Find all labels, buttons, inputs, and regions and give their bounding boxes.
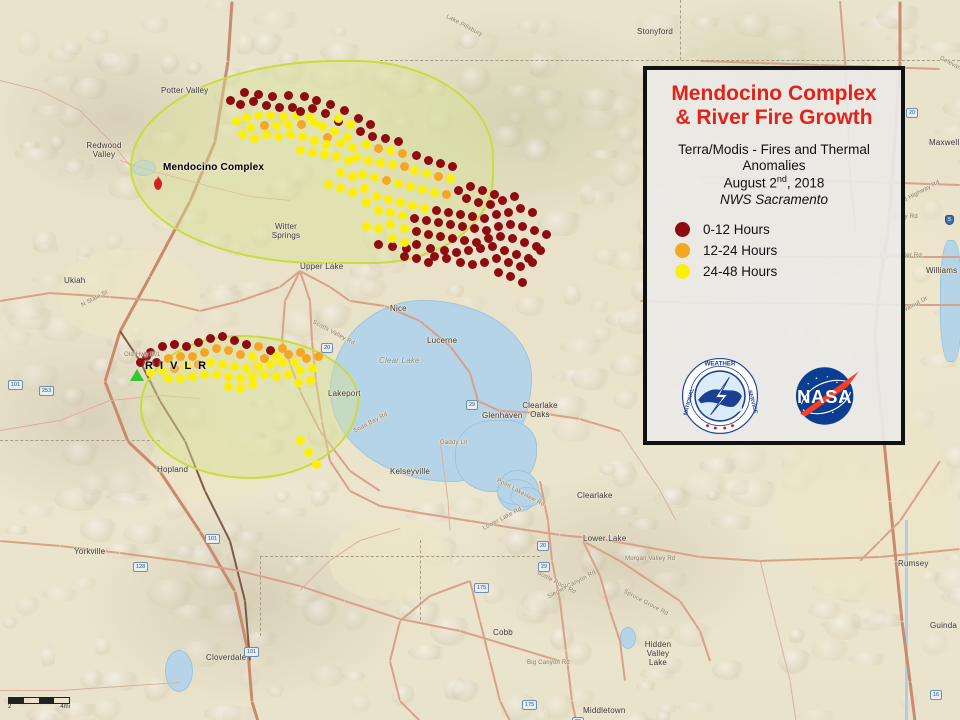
relief-hill — [80, 518, 120, 541]
fire-dot-mendocino-112 — [464, 246, 473, 255]
highway-shield-5: 5 — [945, 215, 954, 225]
fire-dot-mendocino-102 — [496, 232, 505, 241]
legend-date-ordinal: nd — [777, 174, 787, 184]
place-label-clear-lake: Clear Lake — [379, 356, 420, 365]
place-label-kelseyville: Kelseyville — [390, 467, 430, 476]
relief-hill — [14, 148, 68, 159]
fire-dot-mendocino-65 — [510, 192, 519, 201]
relief-hill — [451, 680, 482, 702]
fire-dot-mendocino-40 — [400, 162, 409, 171]
fire-dot-mendocino-83 — [422, 216, 431, 225]
highway-shield-128: 128 — [133, 562, 148, 572]
fire-dot-mendocino-14 — [272, 121, 281, 130]
relief-hill — [491, 126, 528, 147]
fire-dot-mendocino-71 — [432, 206, 441, 215]
fire-dot-mendocino-37 — [364, 156, 373, 165]
fire-dot-river-39 — [314, 352, 323, 361]
fire-dot-mendocino-140 — [354, 114, 363, 123]
fire-dot-mendocino-66 — [372, 192, 381, 201]
fire-dot-mendocino-42 — [424, 156, 433, 165]
fire-dot-mendocino-20 — [321, 109, 330, 118]
fire-dot-mendocino-6 — [254, 111, 263, 120]
relief-hill — [62, 441, 101, 466]
place-label-yorkville: Yorkville — [74, 547, 105, 556]
relief-hill — [529, 52, 550, 80]
fire-dot-mendocino-7 — [266, 111, 275, 120]
relief-hill — [303, 599, 341, 626]
relief-hill — [173, 546, 199, 558]
fire-dot-river-60 — [296, 436, 305, 445]
fire-dot-mendocino-45 — [410, 166, 419, 175]
fire-dot-mendocino-13 — [260, 121, 269, 130]
fire-dot-mendocino-122 — [492, 254, 501, 263]
fire-dot-mendocino-161 — [336, 184, 345, 193]
fire-dot-mendocino-163 — [362, 198, 371, 207]
relief-hill — [564, 283, 581, 309]
fire-dot-mendocino-146 — [298, 132, 307, 141]
relief-hill — [922, 631, 949, 657]
fire-dot-mendocino-169 — [400, 238, 409, 247]
lake-sonoma — [165, 650, 193, 692]
legend-swatch-0 — [675, 222, 690, 237]
fire-dot-mendocino-120 — [468, 260, 477, 269]
fire-dot-mendocino-133 — [284, 91, 293, 100]
highway-shield-20: 20 — [537, 541, 549, 551]
fire-dot-mendocino-149 — [262, 130, 271, 139]
fire-dot-river-23 — [284, 350, 293, 359]
fire-dot-river-19 — [236, 350, 245, 359]
fire-dot-mendocino-52 — [394, 179, 403, 188]
highway-shield-20: 20 — [906, 108, 918, 118]
fire-dot-river-35 — [266, 360, 275, 369]
fire-dot-mendocino-79 — [528, 208, 537, 217]
fire-dot-mendocino-5 — [242, 113, 251, 122]
relief-hill — [580, 180, 596, 209]
relief-hill — [821, 620, 869, 629]
relief-hill — [32, 105, 74, 117]
relief-hill — [3, 617, 18, 628]
fire-dot-river-41 — [176, 374, 185, 383]
fire-dot-mendocino-36 — [352, 153, 361, 162]
relief-hill — [205, 0, 242, 12]
place-label-guinda: Guinda — [930, 621, 957, 630]
hidden-valley-lake — [620, 627, 636, 649]
fire-dot-river-44 — [212, 370, 221, 379]
fire-dot-mendocino-56 — [442, 190, 451, 199]
fire-dot-mendocino-57 — [454, 186, 463, 195]
svg-text:WEATHER: WEATHER — [704, 361, 736, 368]
fire-dot-mendocino-166 — [374, 224, 383, 233]
fire-dot-mendocino-70 — [420, 204, 429, 213]
fire-dot-mendocino-151 — [238, 130, 247, 139]
fire-dot-river-56 — [306, 376, 315, 385]
fire-dot-mendocino-99 — [460, 236, 469, 245]
fire-dot-mendocino-84 — [434, 218, 443, 227]
scale-bar-graphic — [8, 697, 70, 704]
fire-dot-mendocino-135 — [254, 90, 263, 99]
place-label-upper-lake: Upper Lake — [300, 262, 343, 271]
fire-dot-mendocino-69 — [408, 201, 417, 210]
fire-dot-river-38 — [302, 354, 311, 363]
scale-bar-right-label: 4mi — [60, 704, 70, 710]
legend-entry-label-0: 0-12 Hours — [703, 222, 770, 237]
relief-hill — [141, 18, 173, 33]
fire-dot-river-32 — [230, 362, 239, 371]
mendocino-complex-label: Mendocino Complex — [163, 162, 264, 173]
fire-dot-mendocino-141 — [366, 120, 375, 129]
fire-dot-river-6 — [218, 332, 227, 341]
fire-dot-mendocino-73 — [456, 210, 465, 219]
fire-dot-mendocino-62 — [474, 198, 483, 207]
fire-dot-mendocino-136 — [240, 88, 249, 97]
legend-source-line1: Terra/Modis - Fires and Thermal — [657, 142, 891, 158]
fire-dot-mendocino-155 — [308, 148, 317, 157]
fire-dot-mendocino-11 — [232, 117, 241, 126]
place-label-potter-valley: Potter Valley — [161, 86, 208, 95]
fire-dot-mendocino-59 — [478, 186, 487, 195]
fire-dot-mendocino-50 — [370, 173, 379, 182]
relief-hill — [789, 628, 804, 644]
highway-shield-29: 29 — [538, 562, 550, 572]
flame-icon — [152, 176, 164, 190]
place-label-middletown: Middletown — [583, 706, 625, 715]
relief-hill — [169, 605, 218, 619]
legend-date-suffix: , 2018 — [787, 176, 825, 191]
relief-hill — [186, 62, 203, 75]
fire-dot-mendocino-86 — [458, 222, 467, 231]
fire-dot-mendocino-152 — [344, 156, 353, 165]
fire-dot-mendocino-74 — [468, 212, 477, 221]
fire-dot-river-45 — [224, 372, 233, 381]
relief-hill — [105, 233, 124, 251]
relief-hill — [359, 279, 389, 298]
fire-dot-mendocino-121 — [480, 258, 489, 267]
fire-dot-river-7 — [230, 336, 239, 345]
fire-dot-river-51 — [296, 366, 305, 375]
fire-dot-mendocino-124 — [516, 262, 525, 271]
fire-dot-mendocino-43 — [436, 159, 445, 168]
place-label-glenhaven: Glenhaven — [482, 411, 523, 420]
fire-dot-river-54 — [236, 384, 245, 393]
relief-hill — [725, 446, 771, 473]
fire-dot-mendocino-142 — [346, 120, 355, 129]
fire-dot-mendocino-107 — [388, 242, 397, 251]
fire-dot-mendocino-16 — [297, 120, 306, 129]
fire-dot-mendocino-104 — [520, 238, 529, 247]
fire-dot-mendocino-173 — [424, 258, 433, 267]
fire-dot-river-2 — [170, 340, 179, 349]
fire-dot-river-8 — [242, 340, 251, 349]
legend-swatch-2 — [675, 264, 690, 279]
fire-dot-mendocino-118 — [536, 246, 545, 255]
relief-hill — [614, 126, 640, 142]
fire-dot-mendocino-63 — [486, 200, 495, 209]
legend-title-line2: & River Fire Growth — [657, 106, 891, 130]
fire-map-screenshot: StonyfordPotter ValleyRedwood ValleyMaxw… — [0, 0, 960, 720]
relief-hill — [900, 689, 918, 710]
fire-dot-river-1 — [158, 342, 167, 351]
fire-dot-mendocino-55 — [430, 188, 439, 197]
fire-dot-mendocino-85 — [446, 220, 455, 229]
fire-dot-mendocino-49 — [358, 170, 367, 179]
nws-logo: WEATHER NATIONAL SERVICE — [681, 357, 759, 435]
relief-hill — [920, 42, 960, 53]
legend-entry-2: 24-48 Hours — [675, 264, 891, 279]
fire-dot-river-37 — [290, 358, 299, 367]
relief-hill — [320, 43, 366, 62]
legend-entry-label-1: 12-24 Hours — [703, 243, 777, 258]
river-fire-marker-triangle — [130, 369, 144, 381]
relief-hill — [88, 359, 122, 374]
fire-dot-mendocino-41 — [412, 151, 421, 160]
relief-hill — [690, 17, 725, 27]
relief-hill — [668, 47, 704, 58]
fire-dot-river-42 — [188, 372, 197, 381]
place-label-stonyford: Stonyford — [637, 27, 673, 36]
relief-hill — [560, 339, 608, 355]
relief-hill — [578, 88, 622, 111]
highway-shield-175: 175 — [474, 583, 489, 593]
fire-dot-mendocino-68 — [396, 198, 405, 207]
fire-dot-river-3 — [182, 342, 191, 351]
svg-text:NASA: NASA — [797, 386, 852, 407]
relief-hill — [207, 604, 260, 627]
legend-title: Mendocino Complex & River Fire Growth — [657, 82, 891, 129]
scale-bar: 2 4mi — [8, 697, 70, 710]
fire-dot-mendocino-159 — [360, 184, 369, 193]
fire-dot-mendocino-47 — [434, 172, 443, 181]
fire-dot-river-58 — [312, 460, 321, 469]
fire-dot-mendocino-132 — [300, 92, 309, 101]
place-label-clearlake: Clearlake — [577, 491, 613, 500]
fire-dot-mendocino-94 — [400, 224, 409, 233]
relief-hill — [535, 707, 550, 720]
fire-dot-mendocino-22 — [318, 122, 327, 131]
highway-shield-101: 101 — [205, 534, 220, 544]
relief-hill — [123, 524, 168, 544]
relief-hill — [653, 490, 698, 507]
fire-dot-mendocino-158 — [348, 172, 357, 181]
fire-dot-mendocino-53 — [406, 182, 415, 191]
fire-dot-mendocino-144 — [322, 140, 331, 149]
fire-dot-mendocino-90 — [506, 220, 515, 229]
fire-dot-mendocino-44 — [448, 162, 457, 171]
legend-logos: WEATHER NATIONAL SERVICE NASA — [647, 357, 901, 435]
fire-dot-river-52 — [308, 364, 317, 373]
fire-dot-mendocino-129 — [442, 254, 451, 263]
fire-dot-mendocino-172 — [412, 254, 421, 263]
fire-dot-mendocino-34 — [386, 146, 395, 155]
place-label-cloverdale: Cloverdale — [206, 653, 246, 662]
fire-dot-mendocino-67 — [384, 195, 393, 204]
fire-dot-mendocino-98 — [448, 234, 457, 243]
fire-dot-mendocino-139 — [340, 106, 349, 115]
relief-hill — [232, 531, 270, 543]
place-label-clearlake-oaks: Clearlake Oaks — [518, 401, 562, 419]
county-boundary-v — [260, 556, 261, 636]
fire-dot-mendocino-38 — [376, 158, 385, 167]
fire-dot-river-48 — [260, 370, 269, 379]
relief-hill — [593, 248, 621, 265]
legend-entries: 0-12 Hours12-24 Hours24-48 Hours — [657, 222, 891, 279]
relief-hill — [516, 296, 547, 316]
fire-dot-mendocino-18 — [296, 107, 305, 116]
fire-dot-mendocino-15 — [284, 120, 293, 129]
fire-dot-mendocino-30 — [381, 134, 390, 143]
fire-dot-mendocino-150 — [250, 134, 259, 143]
fire-dot-river-33 — [242, 364, 251, 373]
fire-dot-mendocino-134 — [268, 92, 277, 101]
fire-dot-mendocino-138 — [326, 100, 335, 109]
county-boundary — [380, 60, 960, 61]
fire-dot-river-36 — [278, 358, 287, 367]
fire-dot-mendocino-116 — [512, 250, 521, 259]
highway-shield-29: 29 — [466, 400, 478, 410]
fire-dot-mendocino-77 — [504, 208, 513, 217]
fire-dot-mendocino-3 — [275, 103, 284, 112]
relief-hill — [711, 515, 759, 530]
fire-dot-mendocino-48 — [446, 174, 455, 183]
fire-dot-mendocino-170 — [412, 240, 421, 249]
fire-dot-mendocino-78 — [516, 204, 525, 213]
road-segment — [0, 690, 60, 691]
relief-hill — [808, 602, 846, 619]
fire-dot-mendocino-58 — [466, 182, 475, 191]
legend-date-prefix: August 2 — [724, 176, 777, 191]
fire-dot-mendocino-126 — [494, 268, 503, 277]
fire-dot-mendocino-89 — [494, 222, 503, 231]
relief-hill — [161, 53, 179, 75]
highway-shield-175: 175 — [522, 700, 537, 710]
relief-hill — [265, 508, 316, 517]
fire-dot-mendocino-35 — [398, 149, 407, 158]
fire-dot-mendocino-115 — [500, 246, 509, 255]
relief-hill — [517, 20, 545, 33]
place-label-lower-lake: Lower Lake — [583, 534, 626, 543]
legend-panel: Mendocino Complex & River Fire Growth Te… — [643, 66, 905, 445]
fire-dot-mendocino-96 — [424, 230, 433, 239]
fire-dot-mendocino-61 — [462, 194, 471, 203]
legend-date: August 2nd, 2018 — [657, 174, 891, 192]
county-boundary — [260, 556, 540, 557]
fire-dot-mendocino-123 — [504, 258, 513, 267]
relief-hill — [95, 636, 110, 658]
fire-dot-river-31 — [218, 360, 227, 369]
road-name-label: Big Canyon Rd — [527, 660, 570, 666]
fire-dot-mendocino-157 — [336, 168, 345, 177]
relief-hill — [41, 644, 55, 671]
fire-dot-mendocino-164 — [374, 206, 383, 215]
relief-hill — [586, 150, 625, 158]
fire-dot-mendocino-145 — [310, 136, 319, 145]
place-label-hopland: Hopland — [157, 465, 188, 474]
fire-dot-mendocino-91 — [518, 222, 527, 231]
relief-hill — [811, 639, 852, 661]
relief-hill — [97, 52, 147, 76]
road-name-label: Morgan Valley Rd — [625, 556, 675, 562]
fire-dot-mendocino-31 — [394, 137, 403, 146]
fire-dot-river-17 — [212, 344, 221, 353]
relief-hill — [61, 43, 85, 55]
place-label-nice: Nice — [390, 304, 407, 313]
nasa-logo: NASA — [785, 361, 867, 431]
place-label-witter-springs: Witter Springs — [264, 222, 308, 240]
fire-dot-mendocino-111 — [452, 248, 461, 257]
relief-hill — [252, 32, 284, 55]
legend-source-line2: Anomalies — [657, 158, 891, 174]
fire-dot-mendocino-27 — [348, 143, 357, 152]
fire-dot-mendocino-137 — [226, 96, 235, 105]
fire-dot-river-34 — [254, 362, 263, 371]
place-label-hidden-valley-lake: Hidden Valley Lake — [637, 640, 679, 667]
highway-shield-101: 101 — [244, 647, 259, 657]
relief-hill — [543, 106, 567, 134]
road-name-label: Gaddy Ln — [440, 440, 468, 446]
fire-dot-mendocino-168 — [388, 234, 397, 243]
fire-dot-mendocino-153 — [332, 152, 341, 161]
relief-hill — [15, 596, 40, 616]
fire-dot-mendocino-106 — [374, 240, 383, 249]
relief-hill — [252, 11, 306, 29]
relief-hill — [614, 390, 639, 408]
highway-shield-20: 20 — [321, 343, 333, 353]
relief-hill — [519, 145, 564, 164]
relief-hill — [676, 703, 722, 713]
legend-entry-1: 12-24 Hours — [675, 243, 891, 258]
place-label-rumsey: Rumsey — [898, 559, 929, 568]
fire-dot-mendocino-154 — [320, 150, 329, 159]
fire-dot-mendocino-26 — [336, 139, 345, 148]
fire-dot-mendocino-113 — [476, 244, 485, 253]
relief-hill — [61, 388, 87, 405]
fire-dot-mendocino-60 — [490, 190, 499, 199]
fire-dot-mendocino-143 — [334, 114, 343, 123]
fire-dot-mendocino-156 — [296, 146, 305, 155]
fire-dot-mendocino-54 — [418, 185, 427, 194]
fire-dot-mendocino-171 — [400, 252, 409, 261]
fire-dot-mendocino-93 — [542, 230, 551, 239]
place-label-lucerne: Lucerne — [427, 336, 457, 345]
fire-dot-mendocino-160 — [348, 188, 357, 197]
place-label-ukiah: Ukiah — [64, 276, 85, 285]
fire-dot-river-4 — [194, 338, 203, 347]
fire-dot-river-53 — [224, 382, 233, 391]
fire-dot-mendocino-165 — [386, 220, 395, 229]
fire-dot-mendocino-76 — [492, 210, 501, 219]
place-label-maxwell: Maxwell — [929, 138, 959, 147]
legend-office: NWS Sacramento — [657, 192, 891, 208]
relief-hill — [430, 616, 473, 645]
fire-dot-mendocino-148 — [274, 132, 283, 141]
fire-dot-river-62 — [136, 358, 145, 367]
fire-dot-mendocino-127 — [506, 272, 515, 281]
fire-dot-mendocino-119 — [456, 258, 465, 267]
fire-dot-mendocino-131 — [312, 96, 321, 105]
legend-subtitle: Terra/Modis - Fires and Thermal Anomalie… — [657, 142, 891, 208]
place-label-cobb: Cobb — [493, 628, 513, 637]
relief-hill — [611, 507, 643, 515]
fire-dot-mendocino-75 — [480, 214, 489, 223]
highway-shield-253: 253 — [39, 386, 54, 396]
fire-dot-mendocino-51 — [382, 176, 391, 185]
fire-dot-mendocino-81 — [398, 211, 407, 220]
fire-dot-river-18 — [224, 346, 233, 355]
legend-entry-label-2: 24-48 Hours — [703, 264, 777, 279]
relief-hill — [796, 710, 842, 720]
legend-entry-0: 0-12 Hours — [675, 222, 891, 237]
legend-swatch-1 — [675, 243, 690, 258]
relief-hill — [93, 698, 123, 720]
